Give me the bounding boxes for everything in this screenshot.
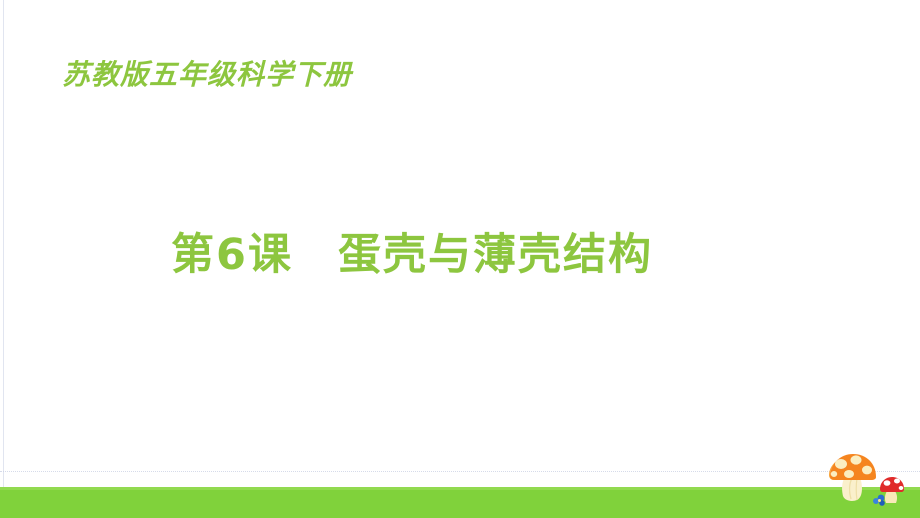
flower-icon (873, 495, 885, 506)
mushroom-icon-large (829, 454, 876, 501)
presentation-slide: 苏教版五年级科学下册 第6课 蛋壳与薄壳结构 (0, 0, 920, 518)
course-label: 苏教版五年级科学下册 (62, 58, 352, 92)
mushroom-icon-small (873, 477, 904, 506)
footer-hairline (0, 471, 920, 473)
page-title: 第6课 蛋壳与薄壳结构 (0, 228, 920, 284)
mushroom-decoration-cluster (818, 450, 916, 506)
footer-green-band (0, 487, 920, 518)
